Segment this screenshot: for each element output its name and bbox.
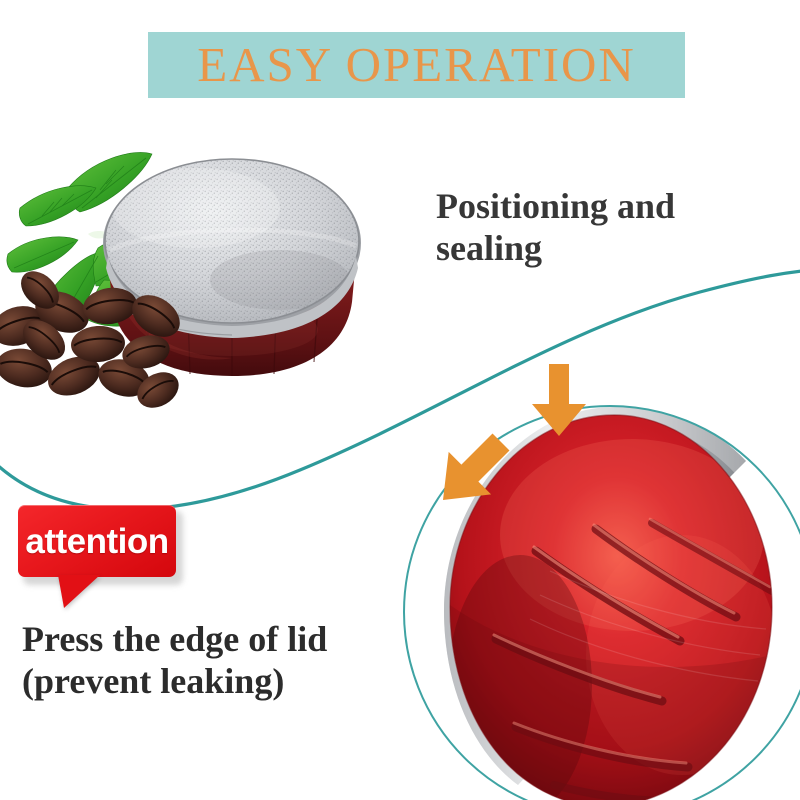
attention-badge-label: attention (25, 524, 168, 559)
red-capsule-closeup (400, 355, 800, 800)
attention-badge-body: attention (18, 505, 176, 577)
caption-positioning-line1: Positioning and (436, 186, 756, 228)
press-edge-arrow (424, 428, 520, 514)
embossed-mark (692, 783, 754, 800)
press-down-arrow (528, 364, 590, 436)
title-banner: EASY OPERATION (148, 32, 685, 98)
infographic-canvas: EASY OPERATION Positioning and sealing P… (0, 0, 800, 800)
caption-press-edge: Press the edge of lid (prevent leaking) (22, 618, 422, 703)
sealed-capsule-photo (0, 130, 400, 430)
page-title: EASY OPERATION (197, 40, 636, 89)
caption-press-line2: (prevent leaking) (22, 660, 422, 702)
caption-press-line1: Press the edge of lid (22, 618, 422, 660)
speech-bubble-tail-icon (58, 575, 100, 608)
caption-positioning-line2: sealing (436, 228, 756, 270)
caption-positioning-sealing: Positioning and sealing (436, 186, 756, 270)
attention-badge: attention (18, 505, 178, 579)
